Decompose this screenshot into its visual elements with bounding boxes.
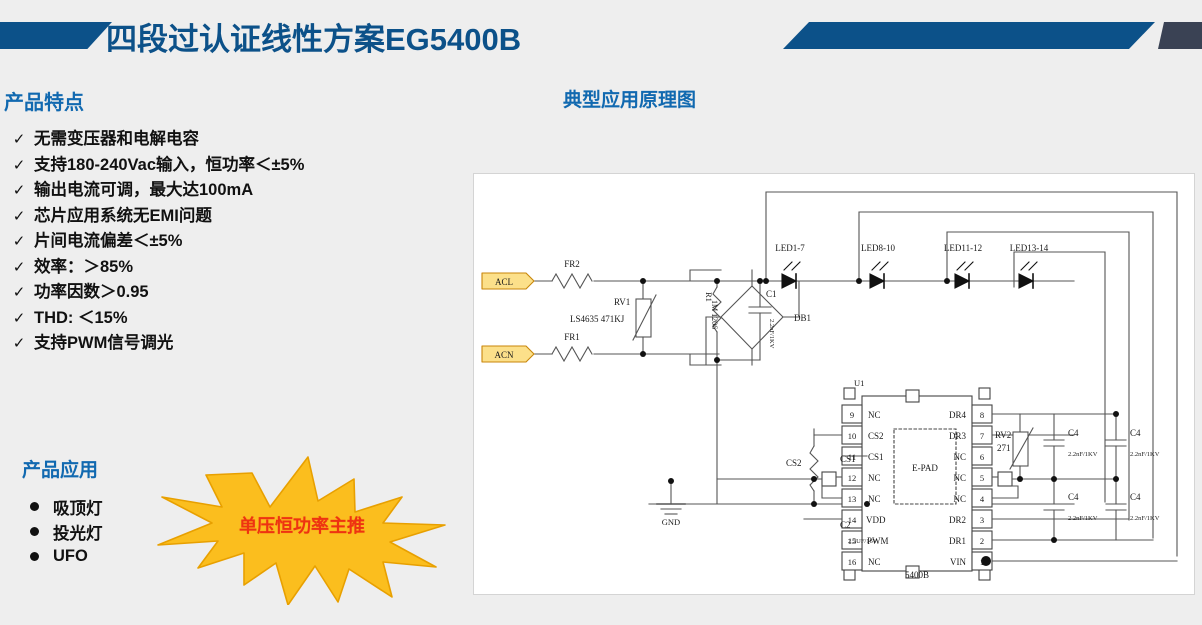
c4c-value: 2.2nF/1KV <box>1068 515 1098 522</box>
junction-dot <box>811 476 817 482</box>
schematic-svg: ACL ACN FR2 FR1 RV1 LS4635 471KJ DB1 R1 … <box>474 174 1195 595</box>
pin-name-8: DR4 <box>949 410 967 420</box>
c4c-ref: C4 <box>1068 492 1079 502</box>
schematic-labels: ACL ACN FR2 FR1 RV1 LS4635 471KJ DB1 R1 … <box>494 243 1159 580</box>
application-item: 吸顶灯 <box>30 494 103 519</box>
pin-name-12: NC <box>868 473 881 483</box>
ic-pad-bl <box>844 569 855 580</box>
pin-name-9: NC <box>868 410 881 420</box>
led-13-14-symbol <box>1019 262 1037 288</box>
junction-dot <box>714 278 720 284</box>
features-list: ✓ 无需变压器和电解电容 ✓ 支持180-240Vac输入，恒功率＜±5% ✓ … <box>4 130 444 360</box>
pin-num-13: 13 <box>848 494 857 504</box>
rv2-ref: RV2 <box>995 430 1011 440</box>
header-accent-bar-left <box>0 22 112 49</box>
check-icon: ✓ <box>4 309 34 327</box>
feature-label: 功率因数＞0.95 <box>34 284 149 301</box>
wire-pin13 <box>822 486 842 498</box>
led-1-7-symbol <box>782 262 800 288</box>
pin-name-11: CS1 <box>868 452 884 462</box>
pin-num-12: 12 <box>848 473 857 483</box>
c1-ref: C1 <box>766 289 777 299</box>
junction-dot <box>1113 476 1119 482</box>
junction-dot <box>757 278 763 284</box>
page-header: 四段过认证线性方案EG5400B <box>0 0 1202 72</box>
pin-name-2: DR1 <box>949 536 966 546</box>
application-item: 投光灯 <box>30 519 103 544</box>
pin-num-3: 3 <box>980 515 984 525</box>
pin-name-7: DR3 <box>949 431 967 441</box>
acn-port-label: ACN <box>494 350 514 360</box>
junction-dot <box>1051 476 1057 482</box>
feature-label: 片间电流偏差＜±5% <box>34 233 182 250</box>
rv1-body <box>636 299 651 337</box>
pin-num-7: 7 <box>980 431 984 441</box>
wire-pin4 <box>992 486 1018 498</box>
starburst-callout: 单压恒功率主推 <box>140 445 450 605</box>
cs2-symbol <box>810 446 818 491</box>
pin-12-13-pad <box>822 472 836 486</box>
pin-num-9: 9 <box>850 410 854 420</box>
led-8-10-label: LED8-10 <box>861 243 895 253</box>
pin-name-16: NC <box>868 557 881 567</box>
led-8-10-symbol <box>870 262 888 288</box>
c1-value: 2.2nF/1KV <box>768 319 775 349</box>
check-icon: ✓ <box>4 207 34 225</box>
feature-label: 效率：＞85% <box>34 259 133 276</box>
application-label: 吸顶灯 <box>53 495 103 519</box>
starburst-label: 单压恒功率主推 <box>140 445 450 605</box>
ic-epad-label: E-PAD <box>912 463 938 473</box>
junction-dot <box>856 278 862 284</box>
pin-num-16: 16 <box>848 557 857 567</box>
fuse-fr2-symbol <box>552 274 592 288</box>
u1-label: U1 <box>854 378 864 388</box>
c4a-ref: C4 <box>1068 428 1079 438</box>
db1-label: DB1 <box>794 313 811 323</box>
applications-heading: 产品应用 <box>22 455 98 482</box>
rv2-body <box>1013 432 1028 466</box>
bullet-icon <box>30 527 39 536</box>
gnd-label: GND <box>662 517 680 527</box>
junction-dot <box>640 351 646 357</box>
schematic-heading: 典型应用原理图 <box>563 85 696 112</box>
c4a-value: 2.2nF/1KV <box>1068 451 1098 458</box>
ic-pad-br <box>979 569 990 580</box>
pin-num-1: 1 <box>980 557 984 567</box>
pin-num-11: 11 <box>848 452 856 462</box>
schematic-diagram: ACL ACN FR2 FR1 RV1 LS4635 471KJ DB1 R1 … <box>473 173 1195 595</box>
fr2-label: FR2 <box>564 259 580 269</box>
pin-name-6: NC <box>953 452 966 462</box>
fuse-fr1-symbol <box>552 347 592 361</box>
check-icon: ✓ <box>4 130 34 148</box>
pin-name-3: DR2 <box>949 515 966 525</box>
ic-notch-top <box>906 390 919 402</box>
applications-list: 吸顶灯 投光灯 UFO <box>30 494 103 569</box>
pin-name-1: VIN <box>950 557 966 567</box>
led-1-7-label: LED1-7 <box>775 243 805 253</box>
features-heading: 产品特点 <box>4 86 84 115</box>
feature-label: 支持180-240Vac输入，恒功率＜±5% <box>34 157 304 174</box>
rv1-value: LS4635 471KJ <box>570 314 625 324</box>
bridge-dcminus <box>690 317 706 365</box>
pin-num-6: 6 <box>980 452 984 462</box>
feature-item: ✓ 效率：＞85% <box>4 258 444 284</box>
page-title: 四段过认证线性方案EG5400B <box>106 14 521 59</box>
junction-dot <box>944 278 950 284</box>
bullet-icon <box>30 552 39 561</box>
pin-name-4: NC <box>953 494 966 504</box>
junction-dot <box>1017 476 1023 482</box>
bullet-icon <box>30 502 39 511</box>
ic-part-label: 5400B <box>905 570 929 580</box>
check-icon: ✓ <box>4 181 34 199</box>
check-icon: ✓ <box>4 283 34 301</box>
feature-label: 输出电流可调，最大达100mA <box>34 182 253 199</box>
feature-label: THD: ＜15% <box>34 310 128 327</box>
feature-label: 无需变压器和电解电容 <box>34 131 199 148</box>
acl-port-label: ACL <box>495 277 513 287</box>
led-13-14-label: LED13-14 <box>1010 243 1049 253</box>
feature-item: ✓ 无需变压器和电解电容 <box>4 130 444 156</box>
check-icon: ✓ <box>4 258 34 276</box>
check-icon: ✓ <box>4 232 34 250</box>
feature-item: ✓ 芯片应用系统无EMI问题 <box>4 207 444 233</box>
junction-dot <box>1051 537 1057 543</box>
feature-item: ✓ 功率因数＞0.95 <box>4 283 444 309</box>
c4b-value: 2.2nF/1KV <box>1130 451 1160 458</box>
c4d-ref: C4 <box>1130 492 1141 502</box>
junction-dot <box>811 501 817 507</box>
application-label: 投光灯 <box>53 520 103 544</box>
led-11-12-label: LED11-12 <box>944 243 982 253</box>
led-11-12-symbol <box>955 262 973 288</box>
rv2-value: 271 <box>997 443 1011 453</box>
pin-name-5: NC <box>953 473 966 483</box>
junction-dot <box>763 278 769 284</box>
check-icon: ✓ <box>4 156 34 174</box>
pin-name-10: CS2 <box>868 431 884 441</box>
c4b-ref: C4 <box>1130 428 1141 438</box>
application-label: UFO <box>53 547 88 566</box>
feature-item: ✓ THD: ＜15% <box>4 309 444 335</box>
ic-pad-tl <box>844 388 855 399</box>
feature-label: 支持PWM信号调光 <box>34 335 173 352</box>
feature-item: ✓ 片间电流偏差＜±5% <box>4 232 444 258</box>
feature-item: ✓ 支持180-240Vac输入，恒功率＜±5% <box>4 156 444 182</box>
junction-dot <box>1113 411 1119 417</box>
rv1-ref: RV1 <box>614 297 630 307</box>
c4d-value: 2.2nF/1KV <box>1130 515 1160 522</box>
check-icon: ✓ <box>4 334 34 352</box>
pin-4-5-pad <box>998 472 1012 486</box>
ic-pad-tr <box>979 388 990 399</box>
wire-pin12b <box>804 462 822 472</box>
pin-num-2: 2 <box>980 536 984 546</box>
pin-num-15: 15 <box>848 536 857 546</box>
header-accent-bar-middle <box>783 22 1155 49</box>
feature-label: 芯片应用系统无EMI问题 <box>34 208 212 225</box>
pin-name-13: NC <box>868 494 881 504</box>
junction-dot <box>714 357 720 363</box>
pin-name-15: PWM <box>867 536 889 546</box>
r1-value: 1M 1206 <box>710 300 719 329</box>
junction-dot <box>640 278 646 284</box>
pin-num-8: 8 <box>980 410 984 420</box>
feature-item: ✓ 支持PWM信号调光 <box>4 334 444 360</box>
cs2-label: CS2 <box>786 458 802 468</box>
header-accent-bar-right <box>1158 22 1202 49</box>
junction-dot <box>668 478 674 484</box>
pin-num-5: 5 <box>980 473 984 483</box>
fr1-label: FR1 <box>564 332 580 342</box>
pin-num-10: 10 <box>848 431 857 441</box>
feature-item: ✓ 输出电流可调，最大达100mA <box>4 181 444 207</box>
application-item: UFO <box>30 544 103 569</box>
pin-name-14: VDD <box>866 515 886 525</box>
pin-num-14: 14 <box>848 515 857 525</box>
